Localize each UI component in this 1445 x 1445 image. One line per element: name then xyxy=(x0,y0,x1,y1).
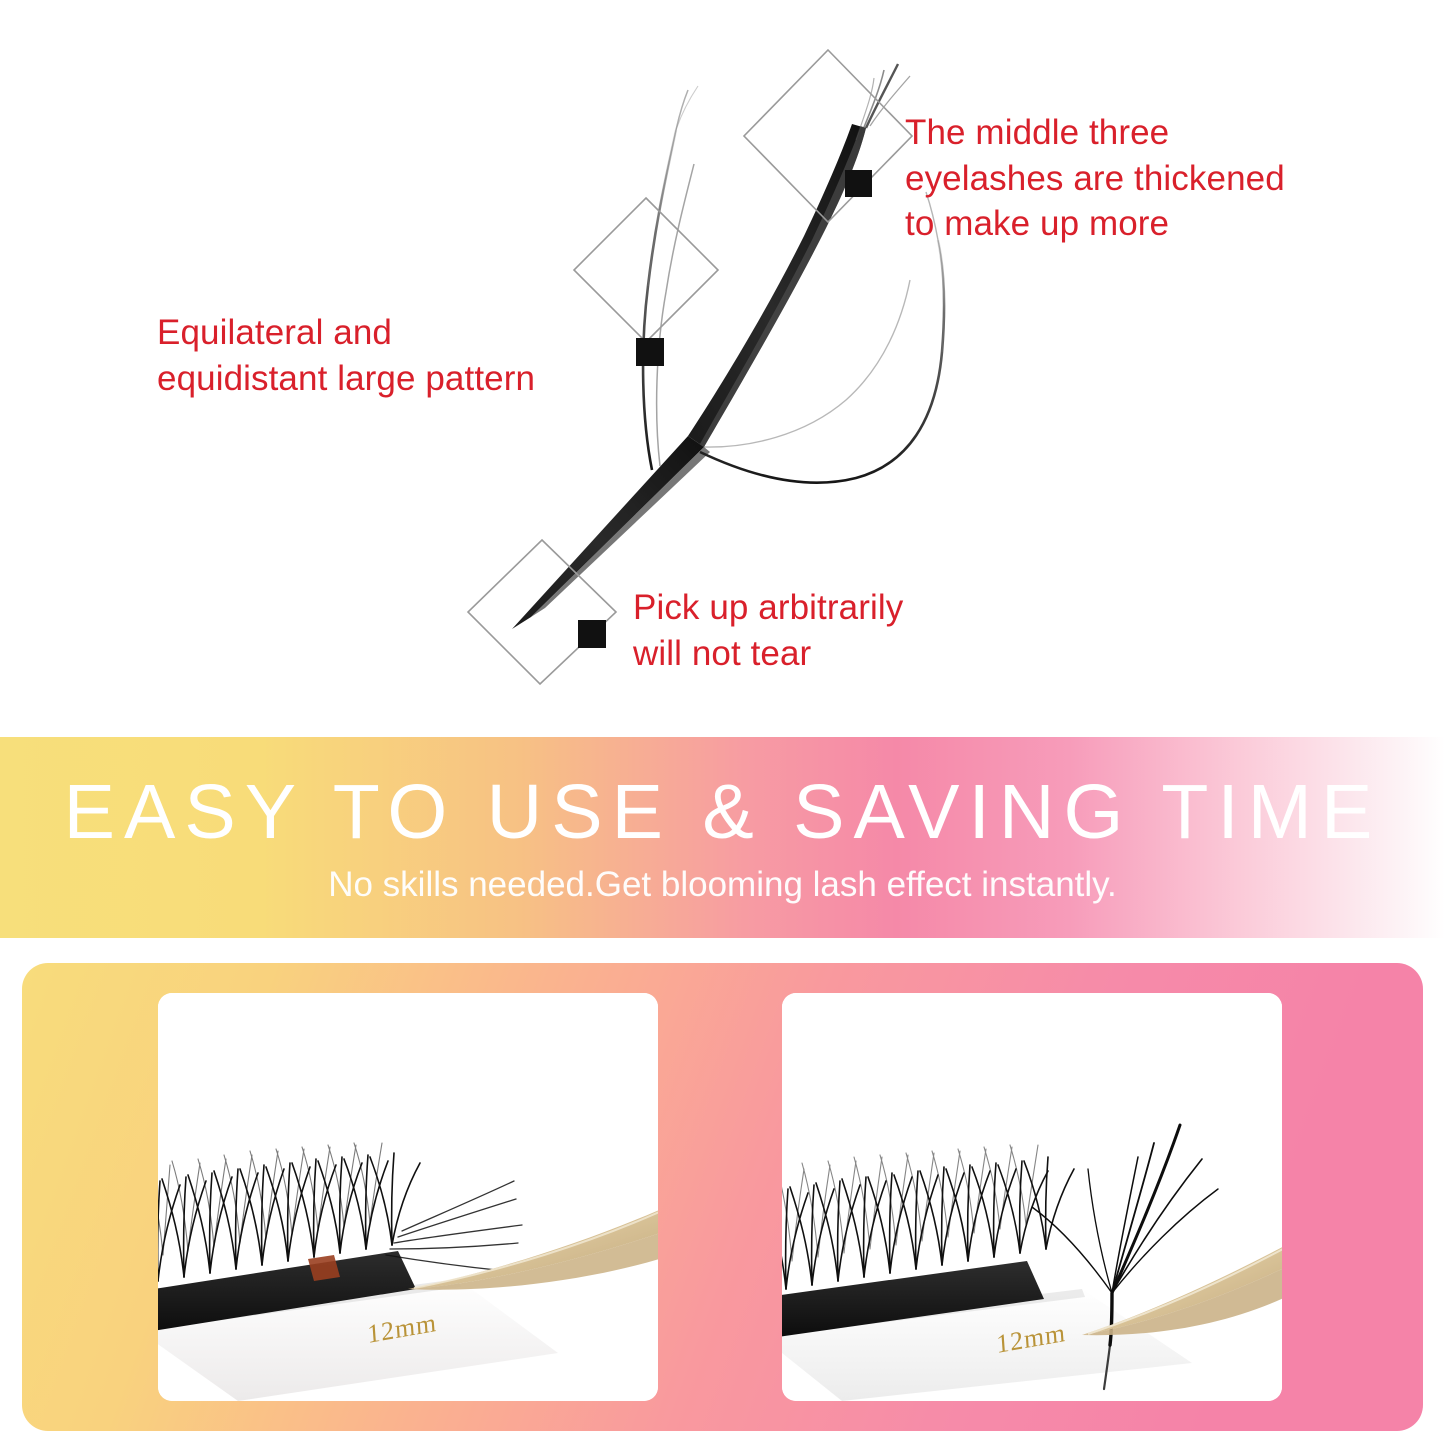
feature-diagram-section: The middle three eyelashes are thickened… xyxy=(0,0,1445,737)
headline-banner: EASY TO USE & SAVING TIME No skills need… xyxy=(0,737,1445,938)
callout-middle-three-thickened: The middle three eyelashes are thickened… xyxy=(905,110,1345,247)
callout-equilateral-pattern: Equilateral and equidistant large patter… xyxy=(157,310,617,401)
product-photo-panel: 12mm xyxy=(22,963,1423,1431)
callout-pick-up-no-tear: Pick up arbitrarily will not tear xyxy=(633,585,1013,676)
banner-subtitle: No skills needed.Get blooming lash effec… xyxy=(328,867,1117,902)
banner-title: EASY TO USE & SAVING TIME xyxy=(64,774,1382,851)
photo-card-right: 12mm xyxy=(782,993,1282,1401)
photo-card-left: 12mm xyxy=(158,993,658,1401)
lash-tray-tweezers-photo: 12mm xyxy=(158,993,658,1401)
lash-tray-fan-tweezers-photo: 12mm xyxy=(782,993,1282,1401)
